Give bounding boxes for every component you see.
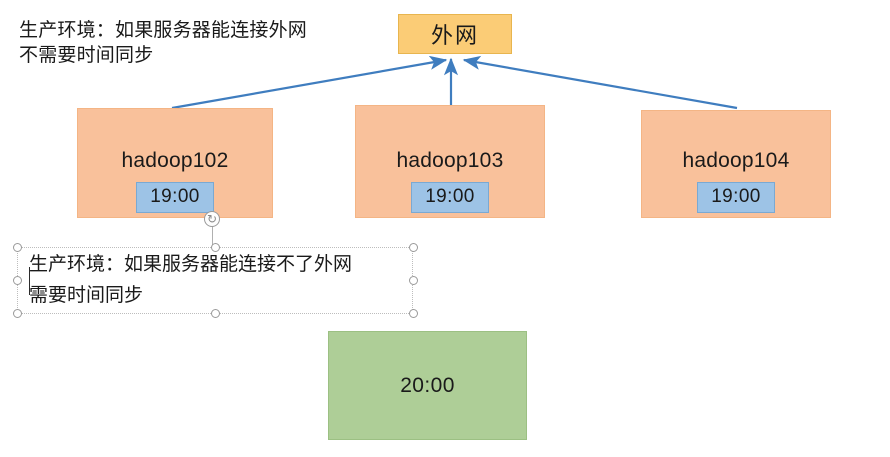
slide-canvas: 生产环境：如果服务器能连接外网 不需要时间同步 外网 hadoop102 19:… — [0, 0, 890, 457]
resize-handle-top-right[interactable] — [409, 243, 418, 252]
rotate-handle[interactable]: ↻ — [204, 211, 220, 227]
host-name-hadoop102: hadoop102 — [122, 149, 229, 173]
host-box-hadoop103[interactable]: hadoop103 19:00 — [355, 105, 545, 218]
outer-net-box[interactable]: 外网 — [398, 14, 512, 54]
resize-handle-middle-left[interactable] — [13, 276, 22, 285]
selected-textbox[interactable]: 生产环境：如果服务器能连接不了外网 需要时间同步 — [17, 247, 413, 314]
host-name-hadoop104: hadoop104 — [683, 149, 790, 173]
time-server-time: 20:00 — [400, 374, 455, 398]
note-top-left: 生产环境：如果服务器能连接外网 不需要时间同步 — [19, 18, 399, 68]
host-time-hadoop104[interactable]: 19:00 — [697, 182, 775, 213]
time-server-box[interactable]: 20:00 — [328, 331, 527, 440]
host-time-hadoop102[interactable]: 19:00 — [136, 182, 214, 213]
resize-handle-bottom-right[interactable] — [409, 309, 418, 318]
host-box-hadoop104[interactable]: hadoop104 19:00 — [641, 110, 831, 218]
resize-handle-middle-right[interactable] — [409, 276, 418, 285]
outer-net-label: 外网 — [431, 18, 479, 50]
arrow-hadoop104-to-outer-net — [464, 60, 737, 108]
host-box-hadoop102[interactable]: hadoop102 19:00 — [77, 108, 273, 218]
resize-handle-top-center[interactable] — [211, 243, 220, 252]
selected-textbox-text: 生产环境：如果服务器能连接不了外网 需要时间同步 — [29, 249, 409, 311]
host-name-hadoop103: hadoop103 — [397, 149, 504, 173]
resize-handle-bottom-center[interactable] — [211, 309, 220, 318]
host-time-hadoop103[interactable]: 19:00 — [411, 182, 489, 213]
resize-handle-bottom-left[interactable] — [13, 309, 22, 318]
resize-handle-top-left[interactable] — [13, 243, 22, 252]
text-caret — [29, 267, 30, 295]
